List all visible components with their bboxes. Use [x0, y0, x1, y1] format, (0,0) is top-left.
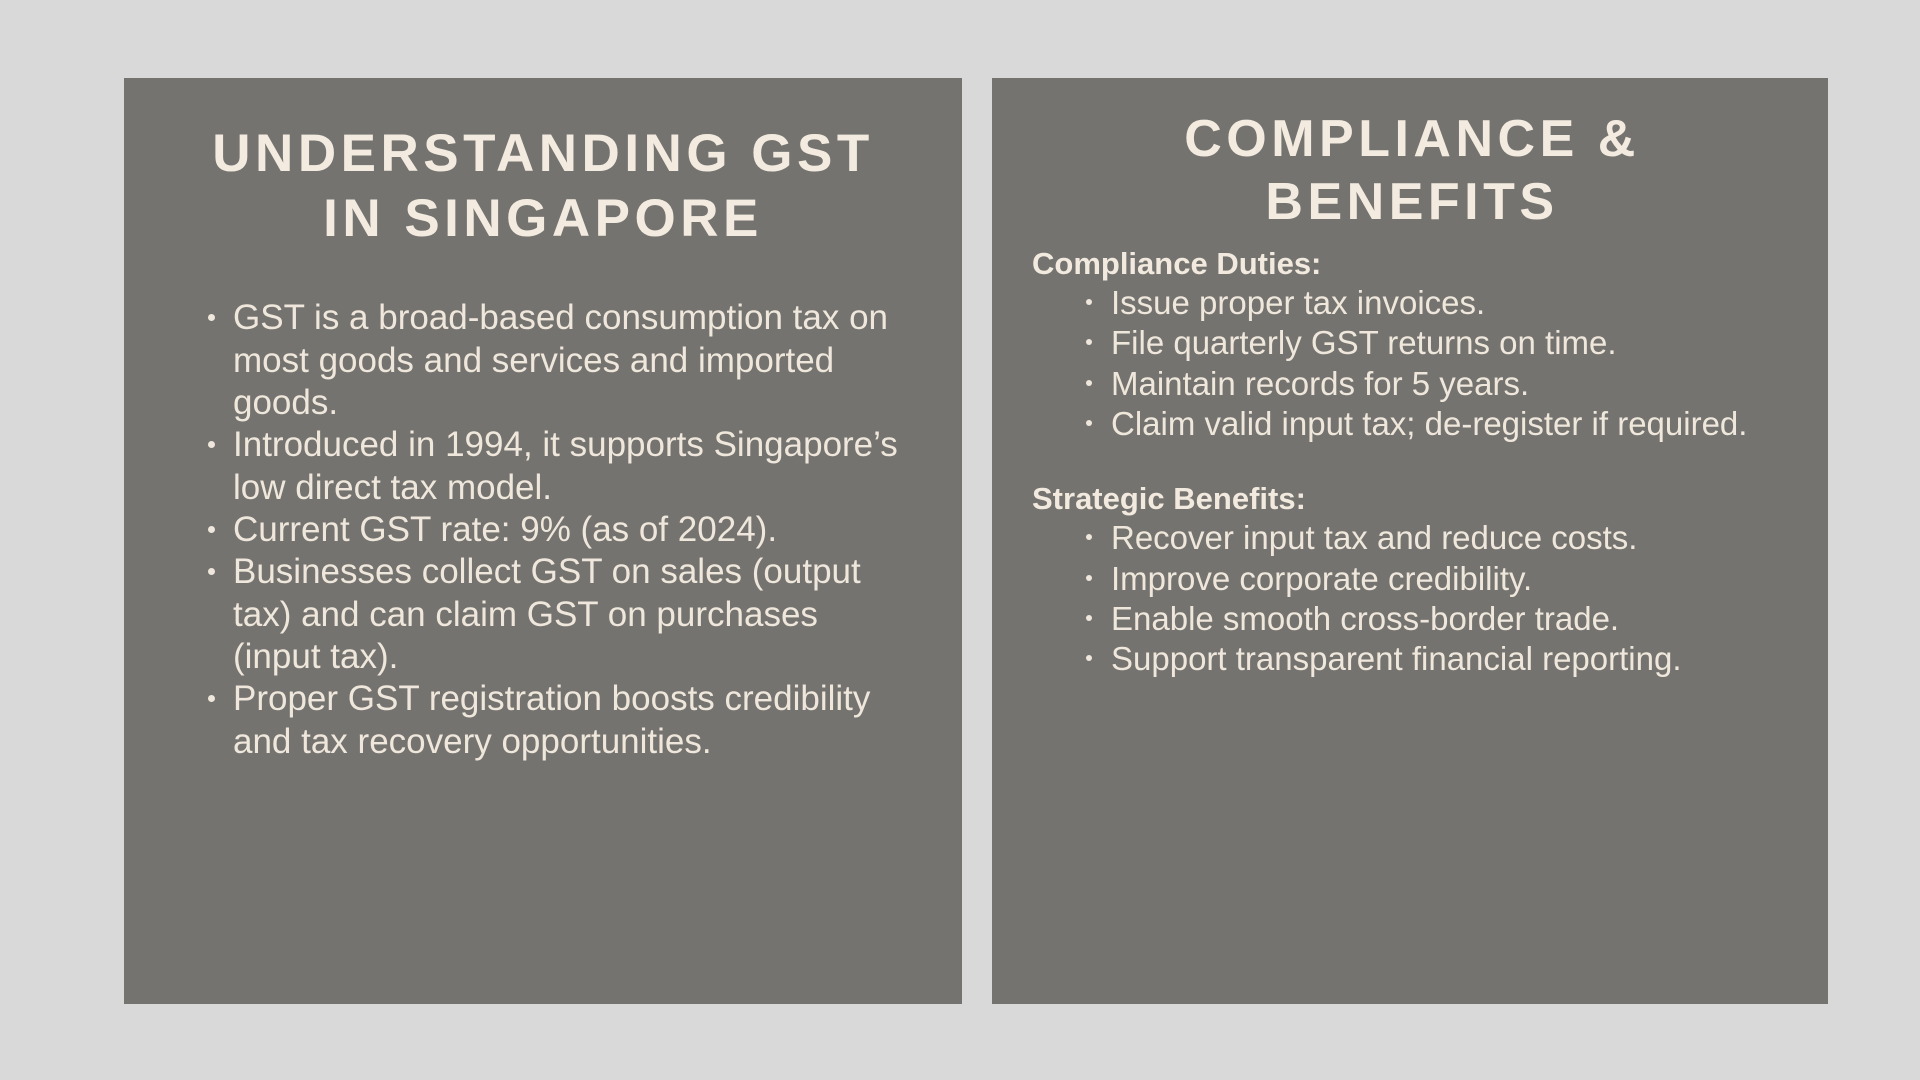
list-item: Current GST rate: 9% (as of 2024). — [200, 509, 914, 551]
section-strategic-benefits: Strategic Benefits: Recover input tax an… — [1032, 480, 1792, 679]
list-item: Businesses collect GST on sales (output … — [200, 551, 914, 678]
list-item: Enable smooth cross-border trade. — [1078, 599, 1792, 639]
list-item: Claim valid input tax; de-register if re… — [1078, 404, 1792, 444]
section-divider-space — [1032, 444, 1792, 480]
right-card-title: COMPLIANCE & BENEFITS — [1032, 108, 1792, 235]
strategic-benefits-list: Recover input tax and reduce costs. Impr… — [1032, 518, 1792, 679]
card-understanding-gst: UNDERSTANDING GST IN SINGAPORE GST is a … — [124, 78, 962, 1004]
section-compliance-duties: Compliance Duties: Issue proper tax invo… — [1032, 245, 1792, 444]
list-item: Recover input tax and reduce costs. — [1078, 518, 1792, 558]
list-item: Proper GST registration boosts credibili… — [200, 678, 914, 763]
compliance-duties-list: Issue proper tax invoices. File quarterl… — [1032, 283, 1792, 444]
list-item: Issue proper tax invoices. — [1078, 283, 1792, 323]
left-card-title: UNDERSTANDING GST IN SINGAPORE — [172, 122, 914, 251]
list-item: Maintain records for 5 years. — [1078, 364, 1792, 404]
list-item: Support transparent financial reporting. — [1078, 639, 1792, 679]
section-heading-strategic-benefits: Strategic Benefits: — [1032, 480, 1792, 517]
list-item: GST is a broad-based consumption tax on … — [200, 297, 914, 424]
list-item: Introduced in 1994, it supports Singapor… — [200, 424, 914, 509]
section-heading-compliance-duties: Compliance Duties: — [1032, 245, 1792, 282]
list-item: File quarterly GST returns on time. — [1078, 323, 1792, 363]
card-compliance-benefits: COMPLIANCE & BENEFITS Compliance Duties:… — [992, 78, 1828, 1004]
right-card-body: Compliance Duties: Issue proper tax invo… — [1032, 245, 1792, 679]
left-card-bullet-list: GST is a broad-based consumption tax on … — [172, 297, 914, 763]
slide-canvas: UNDERSTANDING GST IN SINGAPORE GST is a … — [0, 0, 1920, 1080]
list-item: Improve corporate credibility. — [1078, 559, 1792, 599]
